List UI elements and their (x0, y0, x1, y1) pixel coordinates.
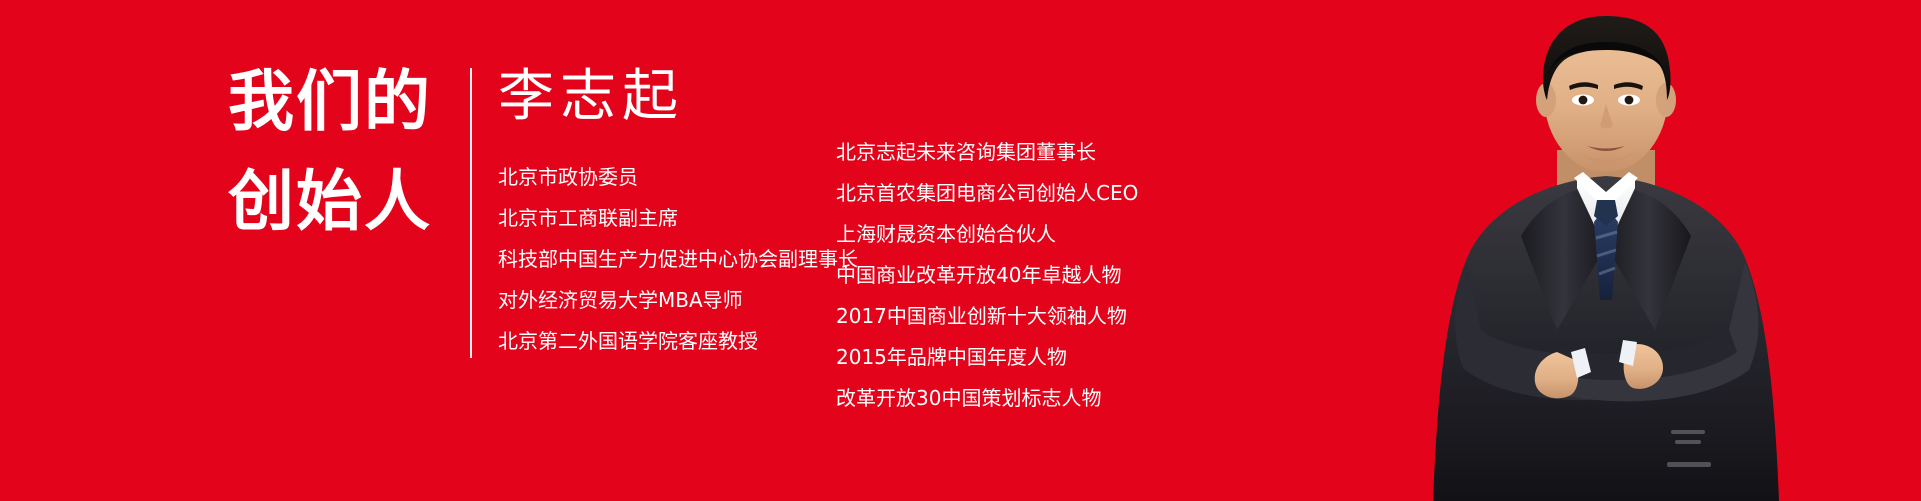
portrait-illustration (1371, 0, 1841, 501)
list-item: 2015年品牌中国年度人物 (836, 337, 1138, 378)
list-item: 北京志起未来咨询集团董事长 (836, 132, 1138, 173)
person-name: 李志起 (498, 62, 684, 132)
list-item: 北京首农集团电商公司创始人CEO (836, 173, 1138, 214)
list-item: 北京市工商联副主席 (498, 198, 858, 239)
credential-list-left: 北京市政协委员 北京市工商联副主席 科技部中国生产力促进中心协会副理事长 对外经… (498, 157, 858, 362)
list-item: 对外经济贸易大学MBA导师 (498, 280, 858, 321)
list-item: 北京市政协委员 (498, 157, 858, 198)
founder-banner: 我们的 创始人 李志起 北京市政协委员 北京市工商联副主席 科技部中国生产力促进… (0, 0, 1921, 501)
page-title-line-1: 我们的 (228, 52, 478, 152)
page-title-line-2: 创始人 (228, 152, 478, 252)
page-title: 我们的 创始人 (228, 52, 478, 252)
founder-portrait-image (1371, 0, 1841, 501)
list-item: 改革开放30中国策划标志人物 (836, 378, 1138, 419)
list-item: 科技部中国生产力促进中心协会副理事长 (498, 239, 858, 280)
vertical-divider (470, 68, 472, 358)
list-item: 2017中国商业创新十大领袖人物 (836, 296, 1138, 337)
credential-list-right: 北京志起未来咨询集团董事长 北京首农集团电商公司创始人CEO 上海财晟资本创始合… (836, 132, 1138, 419)
list-item: 中国商业改革开放40年卓越人物 (836, 255, 1138, 296)
list-item: 北京第二外国语学院客座教授 (498, 321, 858, 362)
list-item: 上海财晟资本创始合伙人 (836, 214, 1138, 255)
